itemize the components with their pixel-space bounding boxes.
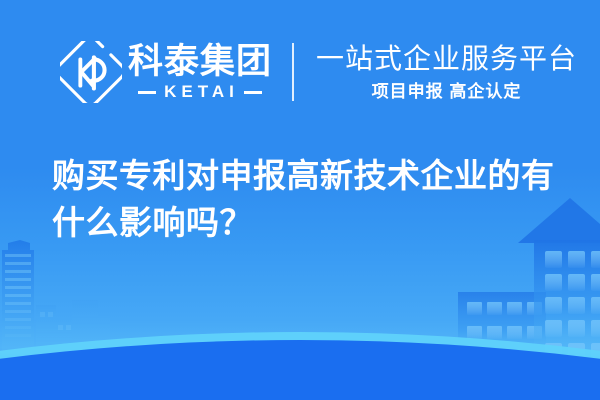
- page-title: 购买专利对申报高新技术企业的有什么影响吗？: [52, 152, 562, 246]
- brand-logo[interactable]: 科泰集团 KETAI: [60, 36, 272, 108]
- wordmark-rule-right: [244, 91, 262, 94]
- tagline-sub: 项目申报 高企认定: [372, 81, 522, 103]
- brand-name-cn: 科泰集团: [128, 43, 272, 81]
- brand-wordmark: 科泰集团 KETAI: [128, 40, 272, 104]
- promo-banner: 科泰集团 KETAI 一站式企业服务平台 项目申报 高企认定 购买专利对申报高新…: [0, 0, 600, 400]
- header-taglines: 一站式企业服务平台 项目申报 高企认定: [316, 36, 577, 108]
- brand-name-en: KETAI: [156, 83, 244, 101]
- header-divider: [292, 43, 294, 101]
- wordmark-rule-left: [138, 91, 156, 94]
- banner-header: 科泰集团 KETAI 一站式企业服务平台 项目申报 高企认定: [60, 36, 577, 108]
- building-left-tower: [2, 240, 34, 358]
- ketai-monogram-icon: [60, 41, 122, 103]
- brand-name-en-row: KETAI: [128, 83, 272, 101]
- tagline-main: 一站式企业服务平台: [316, 42, 577, 76]
